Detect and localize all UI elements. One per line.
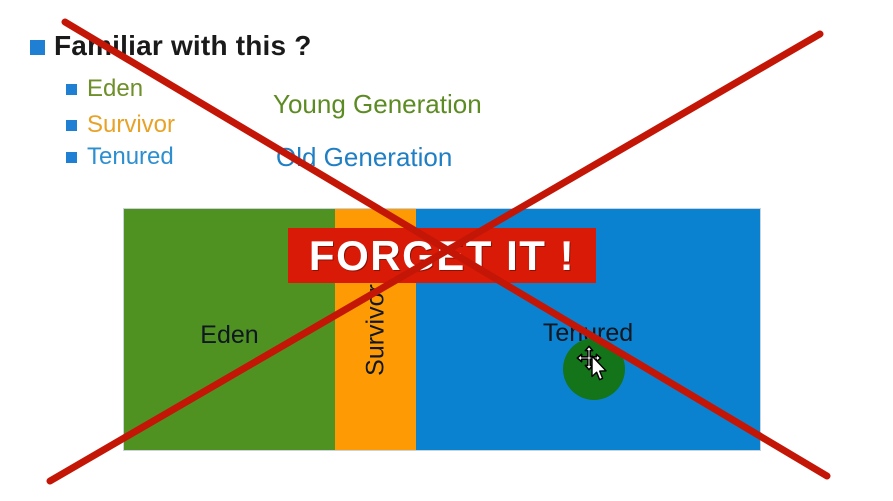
list-item-label: Tenured xyxy=(87,143,174,171)
bullet-square-icon xyxy=(66,84,77,95)
forget-it-text: FORGET IT ! xyxy=(309,232,575,280)
old-generation-label: Old Generation xyxy=(276,142,452,173)
memory-segment-label: Survivor xyxy=(361,284,390,376)
click-highlight-halo xyxy=(563,338,625,400)
slide-canvas: Familiar with this ? Eden Survivor Tenur… xyxy=(0,0,893,501)
list-item-tenured: Tenured xyxy=(66,143,174,171)
page-title: Familiar with this ? xyxy=(54,30,312,62)
list-item-label: Survivor xyxy=(87,111,175,139)
forget-it-banner: FORGET IT ! xyxy=(288,228,596,283)
bullet-square-icon xyxy=(30,40,45,55)
memory-segment-label: Eden xyxy=(200,321,258,350)
list-item-survivor: Survivor xyxy=(66,111,175,139)
bullet-square-icon xyxy=(66,120,77,131)
list-item-label: Eden xyxy=(87,75,143,103)
heading-row: Familiar with this ? xyxy=(30,30,312,62)
bullet-square-icon xyxy=(66,152,77,163)
list-item-eden: Eden xyxy=(66,75,143,103)
young-generation-label: Young Generation xyxy=(273,89,482,120)
